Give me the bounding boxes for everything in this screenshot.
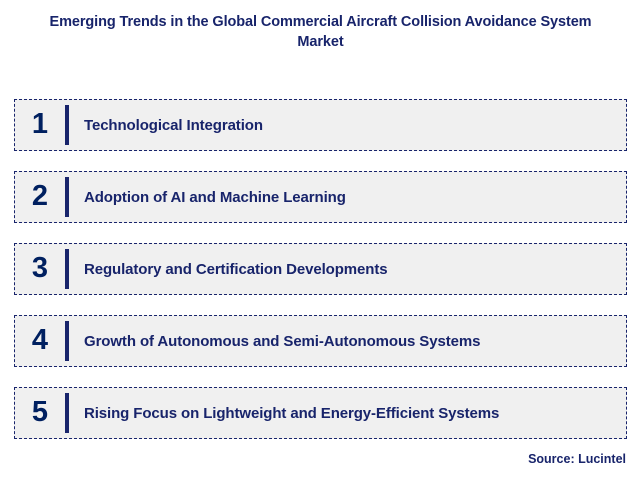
trend-rank-number: 5 [15, 398, 65, 429]
trend-label: Technological Integration [69, 117, 626, 134]
trend-rank-number: 2 [15, 182, 65, 213]
trend-row: 2 Adoption of AI and Machine Learning [14, 171, 627, 223]
trend-label: Rising Focus on Lightweight and Energy-E… [69, 405, 626, 422]
page-title-line-1: Emerging Trends in the Global Commercial… [30, 12, 611, 32]
trend-rank-number: 1 [15, 110, 65, 141]
trend-row: 1 Technological Integration [14, 99, 627, 151]
trend-list: 1 Technological Integration 2 Adoption o… [14, 99, 627, 439]
page-title: Emerging Trends in the Global Commercial… [30, 12, 611, 52]
trend-rank-number: 4 [15, 326, 65, 357]
page-title-line-2: Market [30, 32, 611, 52]
source-attribution: Source: Lucintel [528, 452, 626, 466]
trend-rank-number: 3 [15, 254, 65, 285]
trend-row: 4 Growth of Autonomous and Semi-Autonomo… [14, 315, 627, 367]
trend-row: 5 Rising Focus on Lightweight and Energy… [14, 387, 627, 439]
trend-label: Growth of Autonomous and Semi-Autonomous… [69, 333, 626, 350]
trend-label: Regulatory and Certification Development… [69, 261, 626, 278]
infographic-page: Emerging Trends in the Global Commercial… [0, 0, 641, 480]
trend-row: 3 Regulatory and Certification Developme… [14, 243, 627, 295]
trend-label: Adoption of AI and Machine Learning [69, 189, 626, 206]
